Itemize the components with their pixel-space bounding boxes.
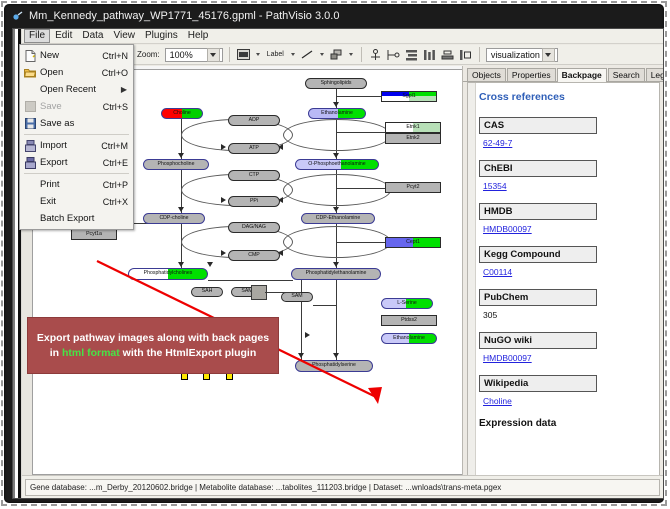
menu-item-save-as[interactable]: Save as — [20, 115, 133, 132]
distribute-horizontal-icon[interactable] — [422, 47, 437, 62]
edge-cept1 — [336, 242, 385, 243]
edge-etnk — [336, 132, 385, 133]
node-o-phosphoethanolamine[interactable]: O-Phosphoethanolamine — [295, 159, 379, 170]
menu-item-accel: Ctrl+M — [101, 141, 133, 151]
menu-edit[interactable]: Edit — [50, 29, 77, 43]
arrowhead-icon — [333, 207, 339, 212]
node-cmp[interactable]: CMP — [228, 250, 280, 261]
node-pcyt1a[interactable]: Pcyt1a — [71, 229, 117, 240]
menu-item-accel: Ctrl+X — [103, 197, 133, 207]
menu-separator — [24, 134, 129, 135]
menu-item-label: Batch Export — [40, 213, 133, 224]
arrowhead-icon — [221, 197, 226, 203]
zoom-combo[interactable]: 100% — [165, 48, 223, 62]
arrowhead-icon — [221, 144, 226, 150]
annotation-text-after: with the HtmlExport plugin — [120, 347, 257, 359]
side-panel-tabs[interactable]: Objects Properties Backpage Search Legen… — [463, 66, 663, 82]
status-bar-text: Gene database: ...m_Derby_20120602.bridg… — [25, 479, 660, 496]
node-sam-2[interactable]: SAM — [281, 292, 313, 302]
edge-ptdcholine-ptdethn — [208, 280, 293, 281]
arrowhead-icon — [333, 153, 339, 158]
node-sah[interactable]: SAH — [191, 287, 223, 297]
xref-source-cas: CAS — [479, 117, 597, 134]
arrowhead-icon — [178, 207, 184, 212]
node-label: ATP — [249, 146, 259, 151]
xref-value-hmdb[interactable]: HMDB00097 — [483, 224, 651, 234]
xref-source-kegg: Kegg Compound — [479, 246, 597, 263]
node-cept1[interactable]: Cept1 — [385, 237, 441, 248]
menu-item-label: Save — [40, 101, 103, 112]
menu-item-accel: Ctrl+P — [103, 180, 133, 190]
node-label: CMP — [248, 253, 260, 258]
tab-legend[interactable]: Legend — [646, 68, 664, 82]
align-center-icon[interactable] — [368, 47, 383, 62]
side-panel[interactable]: Objects Properties Backpage Search Legen… — [463, 66, 663, 476]
zoom-label: Zoom: — [137, 50, 160, 59]
node-label: Phosphocholine — [158, 162, 195, 167]
xref-value-kegg[interactable]: C00114 — [483, 267, 651, 277]
edge-pcyt2 — [336, 188, 385, 189]
menu-item-open-recent[interactable]: Open Recent ▶ — [20, 81, 133, 98]
menu-item-new[interactable]: New Ctrl+N — [20, 47, 133, 64]
menu-item-open[interactable]: Open Ctrl+O — [20, 64, 133, 81]
node-label: Sgpl1 — [402, 94, 415, 99]
menu-item-label: Open Recent — [40, 84, 121, 95]
node-label: CDP-choline — [159, 216, 188, 221]
node-ctp[interactable]: CTP — [228, 170, 280, 181]
node-ethanolamine[interactable]: Ethanolamine — [308, 108, 366, 119]
menu-item-save: Save Ctrl+S — [20, 98, 133, 115]
menu-item-accel: Ctrl+E — [103, 158, 133, 168]
align-middle-icon[interactable] — [386, 47, 401, 62]
export-icon — [20, 157, 40, 169]
annotation-banner: Export pathway images along with back pa… — [27, 317, 279, 374]
node-label: Pcyt2 — [407, 185, 420, 190]
menu-item-batch-export[interactable]: Batch Export — [20, 210, 133, 227]
menu-item-accel: Ctrl+O — [102, 68, 133, 78]
menu-item-label: Save as — [40, 118, 128, 129]
reaction-loop-4 — [283, 119, 391, 151]
xref-source-wikipedia: Wikipedia — [479, 375, 597, 392]
node-label: CTP — [249, 173, 259, 178]
node-etnk2[interactable]: Etnk2 — [385, 133, 441, 144]
node-label: DAG/NAG — [242, 225, 266, 230]
shape-dropdown-icon[interactable] — [347, 48, 355, 62]
node-phosphatidylserine[interactable]: Phosphatidylserine — [295, 360, 373, 372]
node-adp[interactable]: ADP — [228, 115, 280, 126]
arrowhead-icon — [333, 102, 339, 107]
arrowhead-icon — [305, 332, 310, 338]
node-label: CDP-Ethanolamine — [316, 216, 360, 221]
menu-file[interactable]: File — [24, 29, 50, 43]
menu-item-label: Open — [40, 67, 102, 78]
save-as-icon — [20, 118, 40, 129]
node-label: Ptdss2 — [401, 318, 417, 323]
edge-block — [265, 292, 301, 293]
node-atp[interactable]: ATP — [228, 143, 280, 154]
save-disabled-icon — [20, 101, 40, 112]
node-label: Phosphatidylethanolamine — [306, 271, 367, 276]
node-label: L-Serine — [397, 301, 417, 306]
toolbar-separator — [229, 47, 230, 62]
node-label: SAM — [291, 294, 302, 299]
shape-tool-icon[interactable] — [329, 47, 344, 62]
menu-item-print[interactable]: Print Ctrl+P — [20, 176, 133, 193]
node-cdp-ethanolamine[interactable]: CDP-Ethanolamine — [301, 213, 375, 224]
node-ethanolamine-2[interactable]: Ethanolamine — [381, 333, 437, 344]
tab-backpage[interactable]: Backpage — [557, 68, 607, 83]
app-window: Mm_Kennedy_pathway_WP1771_45176.gpml - P… — [0, 0, 670, 509]
submenu-arrow-icon: ▶ — [121, 85, 133, 94]
node-label: Etnk2 — [406, 136, 419, 141]
node-ptdss2[interactable]: Ptdss2 — [381, 315, 437, 326]
menu-view[interactable]: View — [108, 29, 140, 43]
menu-item-accel: Ctrl+S — [103, 102, 133, 112]
arrowhead-icon — [221, 250, 226, 256]
arrowhead-icon — [298, 353, 304, 358]
xref-value-cas[interactable]: 62-49-7 — [483, 138, 651, 148]
handle-sw[interactable] — [181, 373, 188, 380]
node-label: Ethanolamine — [393, 336, 425, 341]
line-dropdown-icon[interactable] — [318, 48, 326, 62]
zoom-value: 100% — [170, 50, 193, 60]
xref-value-nugo[interactable]: HMDB00097 — [483, 353, 651, 363]
node-phosphocholine[interactable]: Phosphocholine — [143, 159, 209, 170]
node-label: ADP — [249, 118, 260, 123]
pathvisio-app-icon — [12, 10, 24, 22]
annotation-highlight: html format — [62, 347, 120, 359]
xref-source-chebi: ChEBI — [479, 160, 597, 177]
title-bar: Mm_Kennedy_pathway_WP1771_45176.gpml - P… — [4, 4, 664, 28]
menu-item-label: New — [40, 50, 102, 61]
node-label: Choline — [173, 111, 191, 116]
handle-se[interactable] — [226, 373, 233, 380]
menu-item-label: Exit — [40, 196, 103, 207]
node-label: Cept1 — [406, 240, 420, 245]
xref-value-pubchem: 305 — [483, 310, 651, 320]
visualization-value: visualization — [491, 50, 540, 60]
file-menu-dropdown[interactable]: New Ctrl+N Open Ctrl+O Open Recent ▶ — [19, 44, 134, 230]
node-label: Phosphatidylserine — [312, 363, 356, 368]
node-etnk1[interactable]: Etnk1 — [385, 122, 441, 133]
arrowhead-icon — [333, 353, 339, 358]
node-l-serine[interactable]: L-Serine — [381, 298, 433, 309]
node-pcyt2[interactable]: Pcyt2 — [385, 182, 441, 193]
datanode-icon[interactable] — [236, 47, 251, 62]
node-sgpl1[interactable]: Sgpl1 — [381, 91, 437, 102]
node-cdp-choline[interactable]: CDP-choline — [143, 213, 205, 224]
menu-help[interactable]: Help — [183, 29, 214, 43]
arrowhead-icon — [333, 262, 339, 267]
node-label: Pcyt1a — [86, 232, 102, 237]
node-label: SAH — [202, 289, 213, 294]
node-label: PPi — [250, 199, 258, 204]
arrowhead-icon — [178, 262, 184, 267]
node-label: Ethanolamine — [321, 111, 353, 116]
stack-left-icon[interactable] — [458, 47, 473, 62]
chevron-down-icon[interactable] — [207, 48, 220, 62]
toolbar-separator-2 — [361, 47, 362, 62]
window-title: Mm_Kennedy_pathway_WP1771_45176.gpml - P… — [29, 10, 339, 22]
toolbar-separator-3 — [479, 47, 480, 62]
node-phosphatidylcholines[interactable]: Phosphatidylcholines — [128, 268, 208, 280]
distribute-vertical-icon[interactable] — [404, 47, 419, 62]
node-ppi[interactable]: PPi — [228, 196, 280, 207]
menu-item-export[interactable]: Export Ctrl+E — [20, 154, 133, 171]
window-chrome: Mm_Kennedy_pathway_WP1771_45176.gpml - P… — [4, 4, 664, 503]
edge-sgpl1 — [336, 96, 381, 97]
expression-data-heading: Expression data — [479, 418, 651, 429]
datanode-dropdown-icon[interactable] — [254, 48, 262, 62]
backpage-panel[interactable]: Cross references CAS 62-49-7 ChEBI 15354… — [467, 82, 660, 476]
menu-item-label: Print — [40, 179, 103, 190]
menu-item-import[interactable]: Import Ctrl+M — [20, 137, 133, 154]
menu-item-label: Export — [40, 157, 103, 168]
arrowhead-icon — [207, 262, 213, 267]
menu-data[interactable]: Data — [77, 29, 108, 43]
tab-objects[interactable]: Objects — [467, 68, 506, 82]
cross-references-title: Cross references — [479, 91, 651, 103]
node-label: Phosphatidylcholines — [144, 271, 193, 276]
label-dropdown-icon[interactable] — [289, 48, 297, 62]
node-label: Sphingolipids — [321, 81, 352, 86]
open-folder-icon — [20, 67, 40, 78]
menu-item-accel: Ctrl+N — [102, 51, 133, 61]
edge-serine — [313, 305, 337, 306]
arrowhead-icon — [178, 153, 184, 158]
xref-value-chebi[interactable]: 15354 — [483, 181, 651, 191]
menu-bar[interactable]: File Edit Data View Plugins Help — [22, 29, 663, 44]
xref-value-wikipedia[interactable]: Choline — [483, 396, 651, 406]
tab-search[interactable]: Search — [608, 68, 645, 82]
menu-separator-2 — [24, 173, 129, 174]
tab-properties[interactable]: Properties — [507, 68, 556, 82]
stack-bottom-icon[interactable] — [440, 47, 455, 62]
visualization-combo[interactable]: visualization — [486, 48, 558, 62]
reaction-loop-5 — [283, 174, 391, 206]
node-sphingolipids[interactable]: Sphingolipids — [305, 78, 367, 89]
menu-plugins[interactable]: Plugins — [140, 29, 183, 43]
menu-item-exit[interactable]: Exit Ctrl+X — [20, 193, 133, 210]
status-bar: Gene database: ...m_Derby_20120602.bridg… — [22, 475, 663, 498]
line-tool-icon[interactable] — [300, 47, 315, 62]
label-button[interactable]: Label — [265, 51, 286, 58]
xref-source-nugo: NuGO wiki — [479, 332, 597, 349]
node-choline[interactable]: Choline — [161, 108, 203, 119]
client-area: File Edit Data View Plugins Help Zoom: 1… — [12, 28, 664, 499]
xref-source-hmdb: HMDB — [479, 203, 597, 220]
new-file-icon — [20, 50, 40, 62]
node-label: Etnk1 — [406, 125, 419, 130]
import-icon — [20, 140, 40, 152]
backpage-content: Cross references CAS 62-49-7 ChEBI 15354… — [475, 83, 659, 475]
node-dag-nag[interactable]: DAG/NAG — [228, 222, 280, 233]
node-phosphatidylethanolamine[interactable]: Phosphatidylethanolamine — [291, 268, 381, 280]
chevron-down-icon-2[interactable] — [542, 48, 555, 62]
xref-source-pubchem: PubChem — [479, 289, 597, 306]
node-label: O-Phosphoethanolamine — [308, 162, 365, 167]
menu-item-label: Import — [40, 140, 101, 151]
edge-ptdethn-ptdserine — [336, 280, 337, 360]
handle-s[interactable] — [203, 373, 210, 380]
